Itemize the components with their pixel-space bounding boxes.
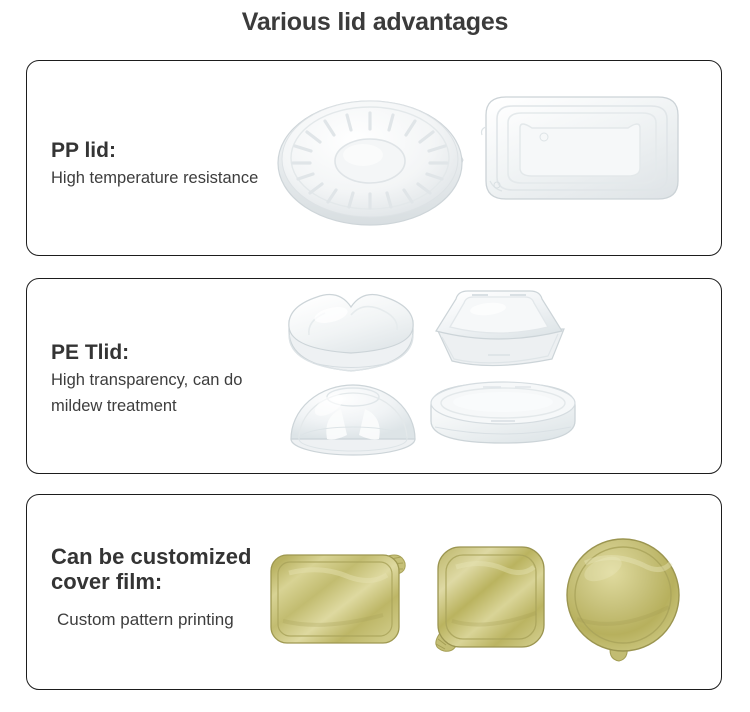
- card-pp-lid: PP lid: High temperature resistance: [26, 60, 722, 256]
- oval-pet-lid-image: [421, 373, 586, 461]
- card-pp-lid-text: PP lid: High temperature resistance: [51, 139, 258, 192]
- card-pp-lid-images: [281, 61, 721, 255]
- square-pet-lid-image: [426, 283, 576, 379]
- card-pe-t-lid-description: High transparency, can do mildew treatme…: [51, 368, 242, 419]
- dome-cup-pet-lid-image: [275, 369, 435, 464]
- rectangular-gold-foil-seal-image: [263, 539, 423, 654]
- card-custom-cover-film-description: Custom pattern printing: [51, 607, 251, 633]
- round-gold-foil-seal-image: [553, 533, 698, 665]
- card-custom-cover-film-images: [281, 495, 721, 689]
- card-pe-t-lid: PE Tlid: High transparency, can do milde…: [26, 278, 722, 474]
- heart-shaped-pet-lid-image: [273, 285, 433, 380]
- card-pe-t-lid-images: [281, 279, 721, 473]
- card-custom-cover-film: Can be customized cover film: Custom pat…: [26, 494, 722, 690]
- card-pp-lid-heading: PP lid:: [51, 139, 258, 163]
- square-gold-foil-seal-image: [426, 537, 561, 662]
- card-custom-cover-film-text: Can be customized cover film: Custom pat…: [51, 545, 251, 633]
- card-pp-lid-description: High temperature resistance: [51, 166, 258, 192]
- page-title: Various lid advantages: [0, 8, 750, 37]
- card-pe-t-lid-heading: PE Tlid:: [51, 341, 242, 365]
- card-custom-cover-film-heading: Can be customized cover film:: [51, 545, 251, 595]
- infographic-page: Various lid advantages PP lid: High temp…: [0, 0, 750, 712]
- card-pe-t-lid-text: PE Tlid: High transparency, can do milde…: [51, 341, 242, 419]
- round-pp-lid-image: [275, 85, 485, 235]
- rectangular-pp-lid-image: [464, 75, 699, 235]
